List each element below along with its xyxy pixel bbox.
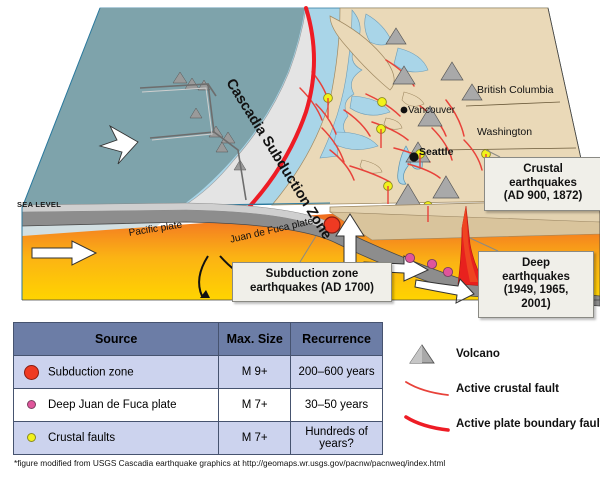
thick-red-line-icon <box>404 411 456 437</box>
table-cell-recurrence: 30–50 years <box>291 389 383 422</box>
callout-crustal-line2: earthquakes <box>488 177 598 191</box>
vancouver-city-dot <box>401 107 408 114</box>
table-cell-max-size: M 9+ <box>219 356 291 389</box>
british-columbia-line2: Columbia <box>509 84 553 96</box>
column-header-max-size: Max. Size <box>219 323 291 356</box>
washington-label: Washington <box>477 126 532 138</box>
seattle-city-dot <box>409 152 418 161</box>
callout-deep-line1: Deep <box>482 257 590 271</box>
legend-item-active-plate-boundary-fault: Active plate boundary fault <box>404 406 600 441</box>
callout-subduction-zone-earthquakes: Subduction zone earthquakes (AD 1700) <box>232 262 392 302</box>
callout-deep-line4: 2001) <box>482 298 590 312</box>
cascadia-earthquake-figure: Cascadia Subduction Zone SEA LEVEL Pacif… <box>0 0 600 479</box>
legend-item-active-crustal-fault: Active crustal fault <box>404 371 600 406</box>
earthquake-source-table: Source Max. Size Recurrence Subduction z… <box>13 322 383 455</box>
table-row: Deep Juan de Fuca plate M 7+ 30–50 years <box>14 389 383 422</box>
table-header-row: Source Max. Size Recurrence <box>14 323 383 356</box>
legend-label-active-plate-boundary-fault: Active plate boundary fault <box>456 418 600 430</box>
table-cell-recurrence: 200–600 years <box>291 356 383 389</box>
table-cell-source: Crustal faults <box>14 422 219 455</box>
legend-label-volcano: Volcano <box>456 348 500 360</box>
vancouver-label: Vancouver <box>408 105 455 116</box>
table-cell-source: Subduction zone <box>14 356 219 389</box>
volcano-icon <box>404 341 456 367</box>
callout-deep-line2: earthquakes <box>482 271 590 285</box>
table-row: Crustal faults M 7+ Hundreds of years? <box>14 422 383 455</box>
callout-crustal-line1: Crustal <box>488 163 598 177</box>
magenta-dot-icon <box>27 400 36 409</box>
table-cell-recurrence: Hundreds of years? <box>291 422 383 455</box>
source-label-subduction-zone: Subduction zone <box>48 366 134 378</box>
callout-crustal-line3: (AD 900, 1872) <box>488 190 598 204</box>
thin-red-line-icon <box>404 376 456 402</box>
figure-source-footnote: *figure modified from USGS Cascadia eart… <box>14 458 445 468</box>
table-cell-max-size: M 7+ <box>219 422 291 455</box>
column-header-source: Source <box>14 323 219 356</box>
sea-level-label: SEA LEVEL <box>17 200 61 209</box>
british-columbia-label: British Columbia <box>477 84 553 96</box>
seattle-label: Seattle <box>419 146 453 158</box>
table-cell-source: Deep Juan de Fuca plate <box>14 389 219 422</box>
legend-item-volcano: Volcano <box>404 336 600 371</box>
callout-subduction-line2: earthquakes (AD 1700) <box>236 282 388 296</box>
legend-label-active-crustal-fault: Active crustal fault <box>456 383 559 395</box>
source-label-crustal-faults: Crustal faults <box>48 432 115 444</box>
table-cell-max-size: M 7+ <box>219 389 291 422</box>
table-row: Subduction zone M 9+ 200–600 years <box>14 356 383 389</box>
map-legend: Volcano Active crustal fault Active plat… <box>404 336 600 441</box>
callout-deep-line3: (1949, 1965, <box>482 284 590 298</box>
british-columbia-line1: British <box>477 84 506 96</box>
column-header-recurrence: Recurrence <box>291 323 383 356</box>
callout-crustal-earthquakes: Crustal earthquakes (AD 900, 1872) <box>484 157 600 211</box>
callout-deep-earthquakes: Deep earthquakes (1949, 1965, 2001) <box>478 251 594 318</box>
source-label-deep-juan-de-fuca-plate: Deep Juan de Fuca plate <box>48 399 177 411</box>
callout-subduction-line1: Subduction zone <box>236 268 388 282</box>
yellow-dot-icon <box>27 433 36 442</box>
red-dot-icon <box>24 365 39 380</box>
